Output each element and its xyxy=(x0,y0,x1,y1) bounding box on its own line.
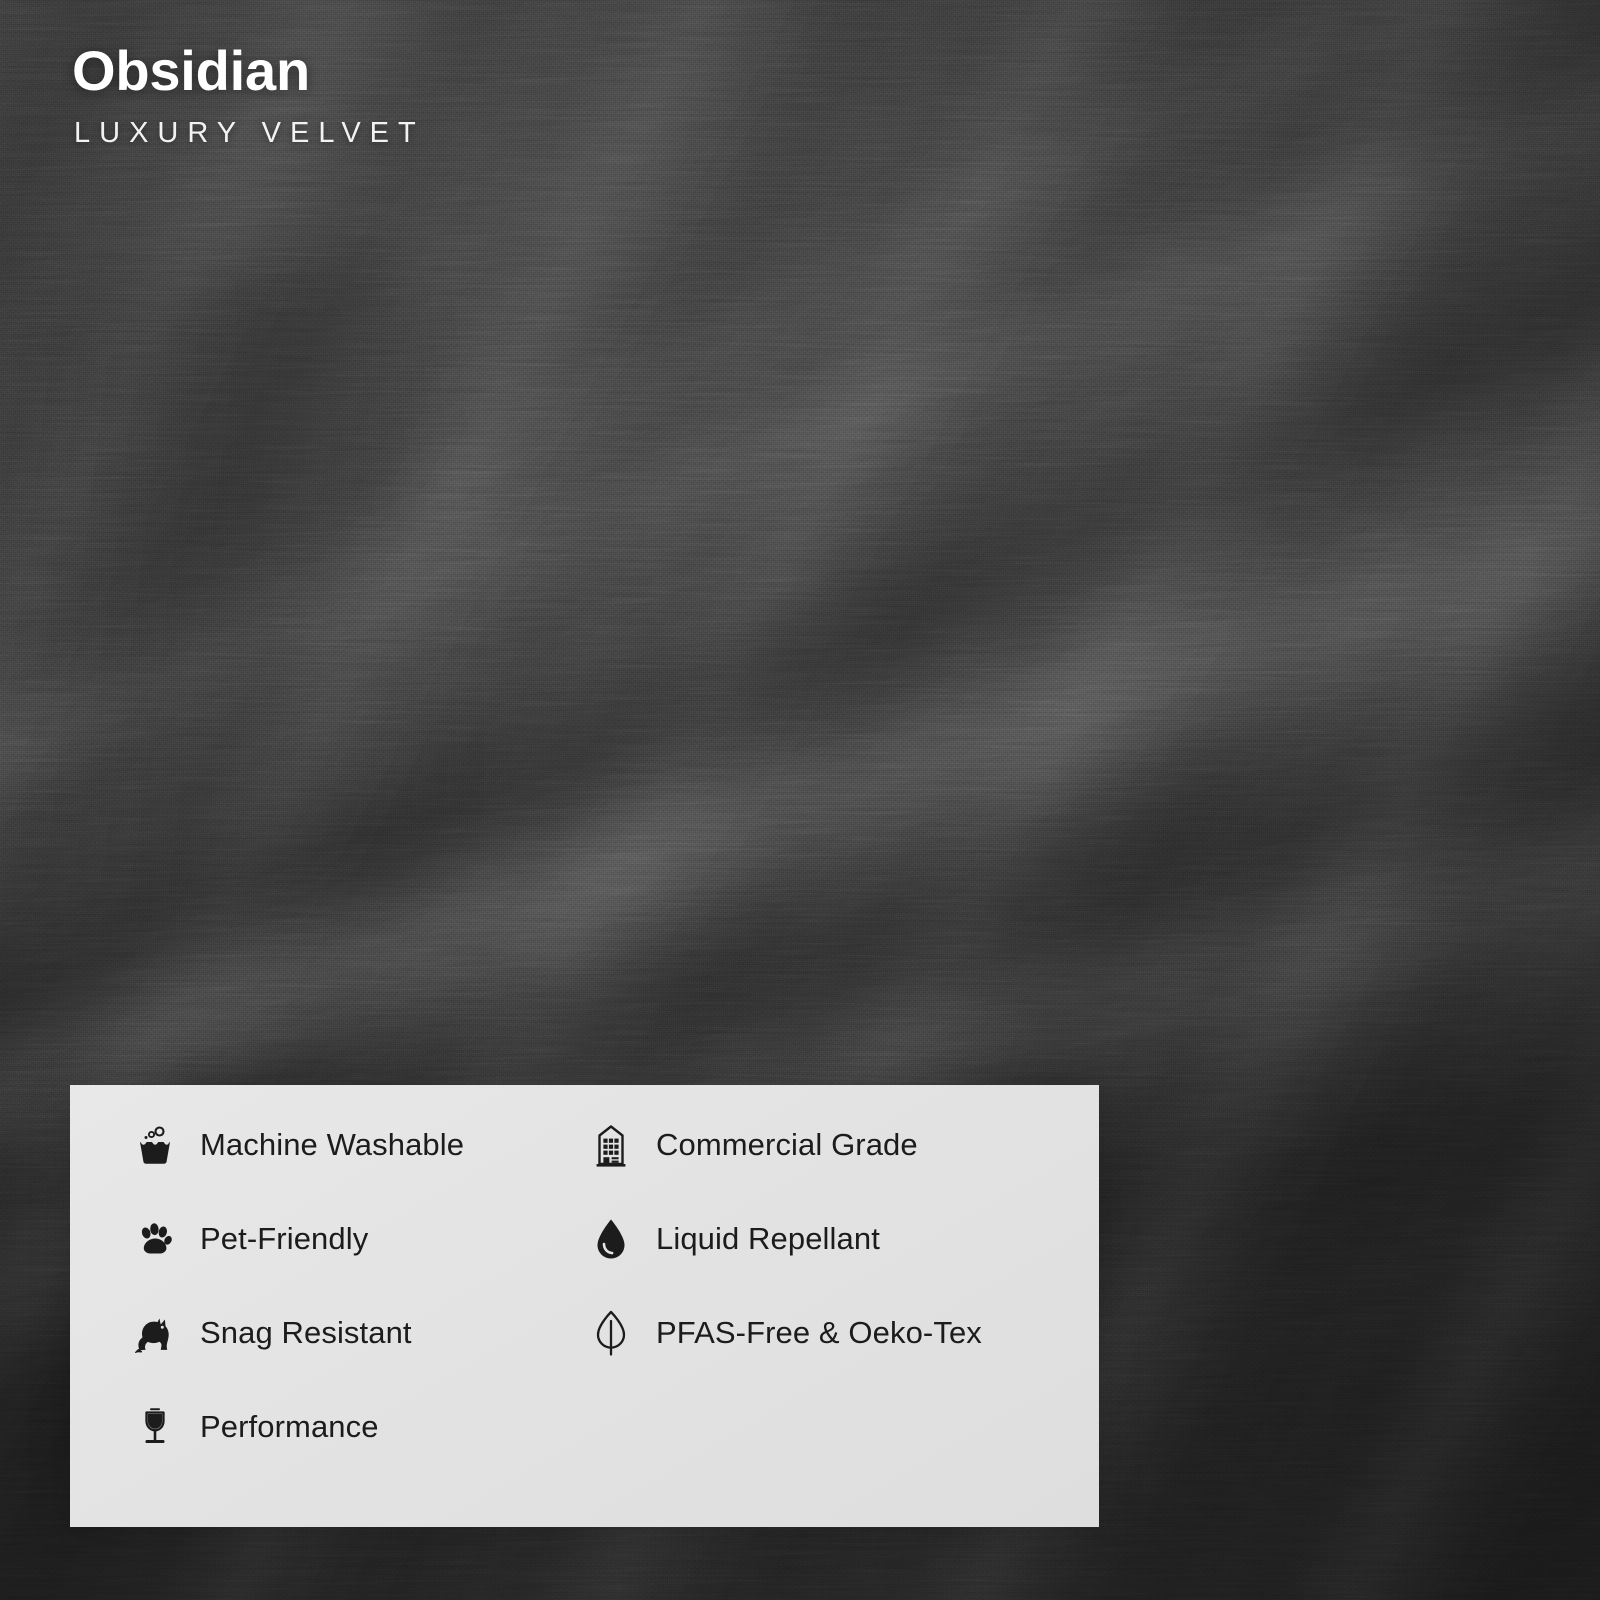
feature-item-performance: Performance xyxy=(132,1397,379,1457)
feature-label: Machine Washable xyxy=(200,1127,464,1163)
feature-label: Commercial Grade xyxy=(656,1127,918,1163)
feature-grid: Machine Washable Pet-Friendly xyxy=(70,1085,1099,1527)
feature-panel: Machine Washable Pet-Friendly xyxy=(70,1085,1099,1527)
feature-item-pfas-free-oeko-tex: PFAS-Free & Oeko-Tex xyxy=(588,1303,982,1363)
fabric-swatch-card: Obsidian LUXURY VELVET Machine Washable xyxy=(0,0,1600,1600)
building-icon xyxy=(588,1122,634,1168)
product-header: Obsidian LUXURY VELVET xyxy=(72,42,425,148)
product-category: LUXURY VELVET xyxy=(74,119,425,148)
water-droplet-icon xyxy=(588,1216,634,1262)
feature-item-pet-friendly: Pet-Friendly xyxy=(132,1209,368,1269)
leaf-icon xyxy=(588,1310,634,1356)
product-name: Obsidian xyxy=(72,42,425,101)
feature-label: Liquid Repellant xyxy=(656,1221,880,1257)
feature-item-snag-resistant: Snag Resistant xyxy=(132,1303,412,1363)
paw-print-icon xyxy=(132,1216,178,1262)
feature-label: Pet-Friendly xyxy=(200,1221,368,1257)
feature-label: PFAS-Free & Oeko-Tex xyxy=(656,1315,982,1351)
feature-item-machine-washable: Machine Washable xyxy=(132,1115,464,1175)
feature-label: Performance xyxy=(200,1409,379,1445)
feature-item-commercial-grade: Commercial Grade xyxy=(588,1115,918,1175)
washing-machine-icon xyxy=(132,1122,178,1168)
feature-label: Snag Resistant xyxy=(200,1315,412,1351)
wine-glass-icon xyxy=(132,1404,178,1450)
cat-icon xyxy=(132,1310,178,1356)
feature-item-liquid-repellant: Liquid Repellant xyxy=(588,1209,880,1269)
